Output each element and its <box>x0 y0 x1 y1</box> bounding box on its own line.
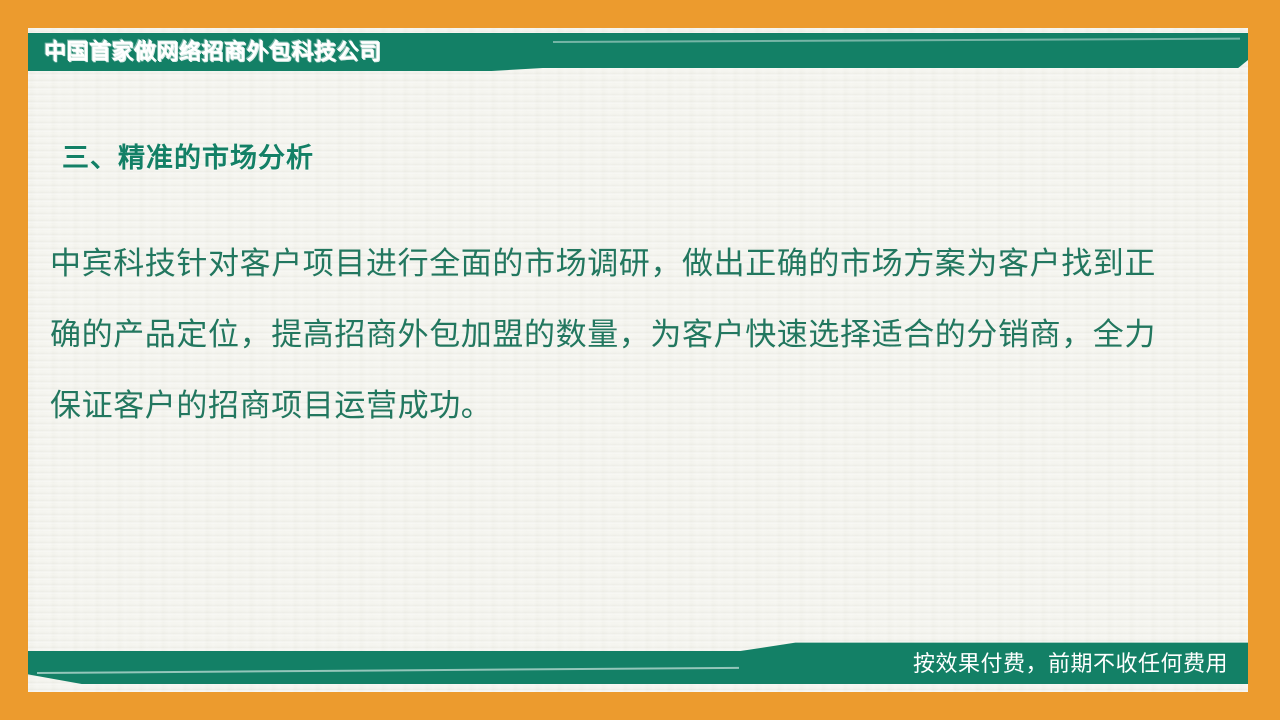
presentation-slide: 中国首家做网络招商外包科技公司 三、精准的市场分析 中宾科技针对客户项目进行全面… <box>0 0 1280 720</box>
body-line: 保证客户的招商项目运营成功。 <box>50 370 1190 441</box>
header-title: 中国首家做网络招商外包科技公司 <box>44 33 382 71</box>
body-paragraph: 中宾科技针对客户项目进行全面的市场调研，做出正确的市场方案为客户找到正 确的产品… <box>50 228 1190 441</box>
slide-footer-band: 按效果付费，前期不收任何费用 <box>28 640 1248 684</box>
section-heading: 三、精准的市场分析 <box>62 136 314 175</box>
footer-slogan: 按效果付费，前期不收任何费用 <box>913 643 1228 684</box>
body-line: 中宾科技针对客户项目进行全面的市场调研，做出正确的市场方案为客户找到正 <box>50 228 1190 299</box>
slide-header-band: 中国首家做网络招商外包科技公司 <box>28 33 1248 71</box>
body-line: 确的产品定位，提高招商外包加盟的数量，为客户快速选择适合的分销商，全力 <box>50 299 1190 370</box>
